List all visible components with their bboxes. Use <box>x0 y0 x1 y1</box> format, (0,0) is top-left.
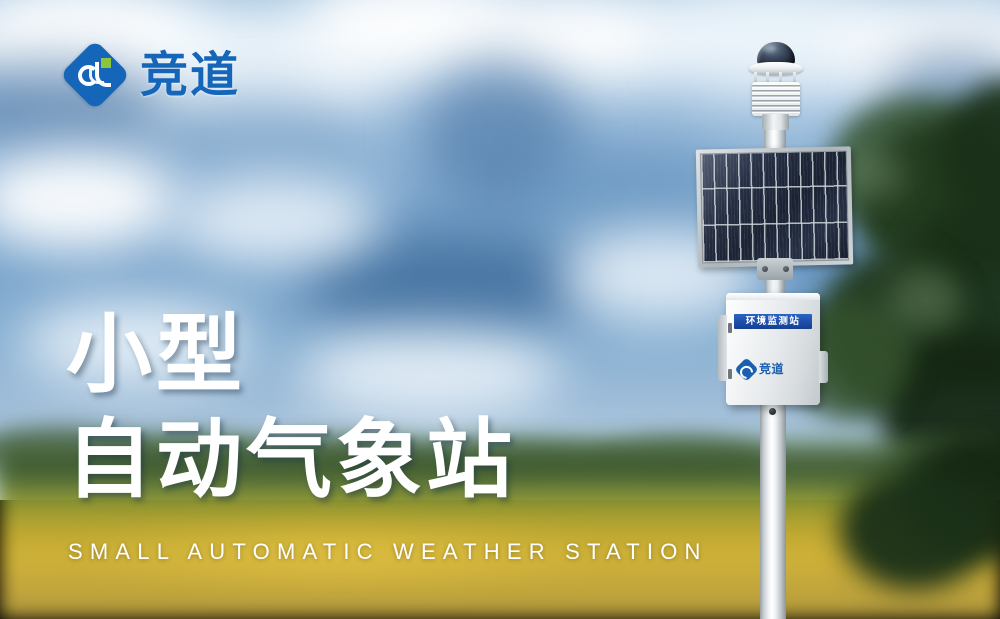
dome-specular-highlight <box>763 45 776 52</box>
bracket-bolt <box>783 266 789 272</box>
enclosure-latch <box>728 369 732 379</box>
enclosure-right-mount <box>819 351 828 383</box>
jingdao-diamond-logo-icon <box>734 357 758 381</box>
enclosure-top-edge <box>726 293 820 300</box>
enclosure-brand-label: 竞道 <box>759 363 784 375</box>
enclosure-latch <box>728 323 732 333</box>
shield-fin <box>752 90 800 92</box>
page-subtitle: SMALL AUTOMATIC WEATHER STATION <box>68 541 708 563</box>
support-pole-lower <box>760 400 786 619</box>
bracket-bolt <box>762 266 768 272</box>
shield-fin <box>752 95 800 97</box>
brand-lockup: 竞道 <box>64 44 240 106</box>
logo-green-square <box>101 58 111 68</box>
shield-fin <box>752 110 800 112</box>
enclosure-banner: 环境监测站 <box>734 314 812 329</box>
sensor-neck-collar <box>762 114 789 130</box>
title-line-2: 自动气象站 <box>66 408 516 513</box>
enclosure-banner-label: 环境监测站 <box>746 317 801 327</box>
page-title: 小型 自动气象站 <box>66 303 516 513</box>
shield-fin <box>752 85 800 87</box>
solar-panel-cells <box>700 150 849 263</box>
enclosure-left-hinge <box>718 315 727 381</box>
brand-name: 竞道 <box>140 51 240 99</box>
shield-fin <box>752 100 800 102</box>
control-enclosure[interactable]: 环境监测站 竞道 <box>726 293 820 405</box>
solar-panel-gloss <box>701 151 848 262</box>
solar-panel <box>696 146 853 267</box>
jingdao-diamond-logo-icon <box>64 44 126 106</box>
pole-bolt <box>769 408 776 415</box>
weather-station-product-banner: 环境监测站 竞道 竞道 小型 自动气象站 SMALL AUTOMATIC WEA… <box>0 0 1000 619</box>
shield-fin <box>752 105 800 107</box>
title-line-1: 小型 <box>66 305 246 405</box>
enclosure-brand-logo: 竞道 <box>738 359 810 379</box>
radiation-shield <box>752 82 800 116</box>
